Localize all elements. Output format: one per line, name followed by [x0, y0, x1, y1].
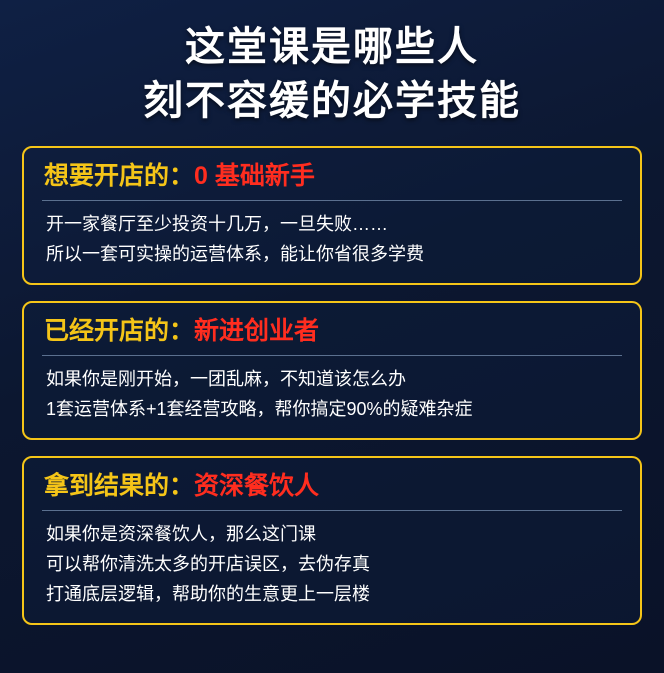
card-body: 如果你是刚开始，一团乱麻，不知道该怎么办 1套运营体系+1套经营攻略，帮你搞定9… — [40, 364, 624, 424]
card-body-line: 可以帮你清洗太多的开店误区，去伪存真 — [46, 549, 624, 579]
card-divider — [42, 355, 622, 356]
poster-root: 这堂课是哪些人 刻不容缓的必学技能 想要开店的：0 基础新手 开一家餐厅至少投资… — [0, 0, 664, 673]
card-body: 开一家餐厅至少投资十几万，一旦失败…… 所以一套可实操的运营体系，能让你省很多学… — [40, 209, 624, 269]
card-body-line: 如果你是资深餐饮人，那么这门课 — [46, 519, 624, 549]
card-title: 想要开店的：0 基础新手 — [40, 158, 624, 194]
card-title-highlight: 新进创业者 — [194, 317, 319, 345]
card-body-line: 打通底层逻辑，帮助你的生意更上一层楼 — [46, 579, 624, 609]
audience-card-beginner: 想要开店的：0 基础新手 开一家餐厅至少投资十几万，一旦失败…… 所以一套可实操… — [22, 146, 642, 285]
card-body-line: 所以一套可实操的运营体系，能让你省很多学费 — [46, 239, 624, 269]
card-divider — [42, 510, 622, 511]
card-body: 如果你是资深餐饮人，那么这门课 可以帮你清洗太多的开店误区，去伪存真 打通底层逻… — [40, 519, 624, 609]
card-title-prefix: 想要开店的： — [44, 162, 194, 190]
audience-card-new-owner: 已经开店的：新进创业者 如果你是刚开始，一团乱麻，不知道该怎么办 1套运营体系+… — [22, 301, 642, 440]
page-title: 这堂课是哪些人 刻不容缓的必学技能 — [22, 0, 642, 126]
card-list: 想要开店的：0 基础新手 开一家餐厅至少投资十几万，一旦失败…… 所以一套可实操… — [22, 146, 642, 625]
card-title-prefix: 拿到结果的： — [44, 472, 194, 500]
card-body-line: 1套运营体系+1套经营攻略，帮你搞定90%的疑难杂症 — [46, 394, 624, 424]
card-title: 已经开店的：新进创业者 — [40, 313, 624, 349]
headline-line-1: 这堂课是哪些人 — [22, 22, 642, 72]
card-body-line: 开一家餐厅至少投资十几万，一旦失败…… — [46, 209, 624, 239]
card-body-line: 如果你是刚开始，一团乱麻，不知道该怎么办 — [46, 364, 624, 394]
card-title-highlight: 资深餐饮人 — [194, 472, 319, 500]
card-title: 拿到结果的：资深餐饮人 — [40, 468, 624, 504]
audience-card-veteran: 拿到结果的：资深餐饮人 如果你是资深餐饮人，那么这门课 可以帮你清洗太多的开店误… — [22, 456, 642, 625]
card-divider — [42, 200, 622, 201]
card-title-prefix: 已经开店的： — [44, 317, 194, 345]
card-title-highlight: 0 基础新手 — [194, 162, 315, 190]
headline-line-2: 刻不容缓的必学技能 — [22, 76, 642, 126]
